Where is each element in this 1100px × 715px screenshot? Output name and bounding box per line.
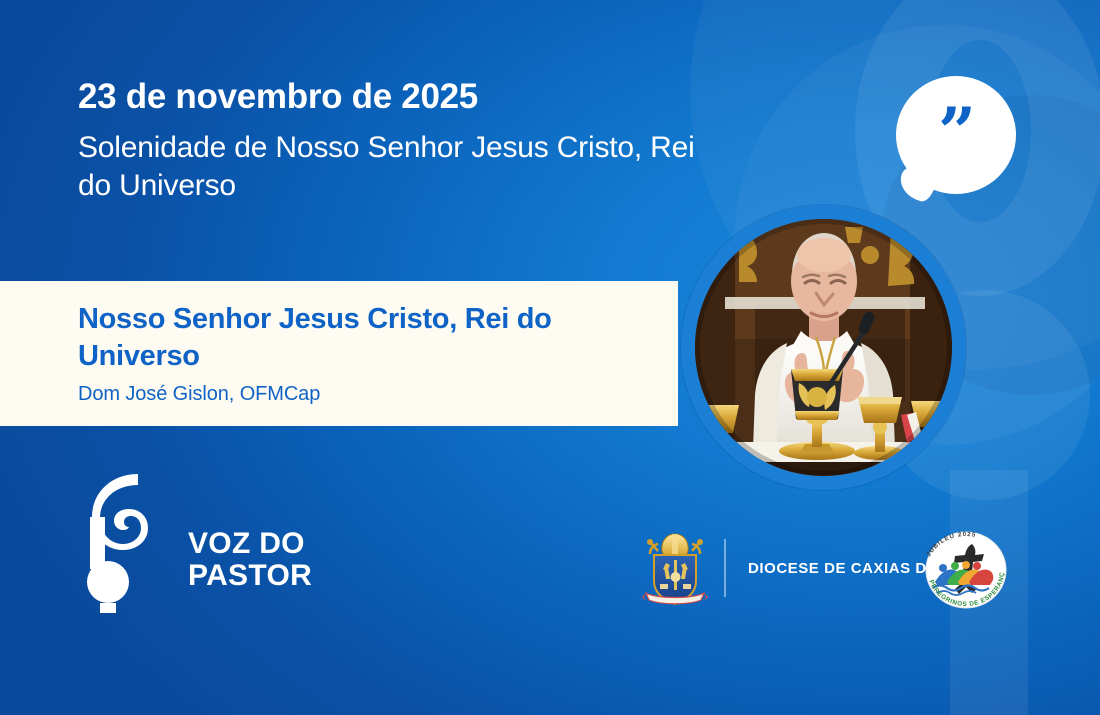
bishop-photo-frame xyxy=(681,205,966,490)
speech-bubble-quote-icon: ” xyxy=(896,76,1016,194)
homily-title: Nosso Senhor Jesus Cristo, Rei do Univer… xyxy=(78,301,638,374)
crosier-icon xyxy=(80,468,184,613)
logo-line-1: VOZ DO xyxy=(188,528,312,560)
homily-author: Dom José Gislon, OFMCap xyxy=(78,383,638,406)
voz-do-pastor-banner: 23 de novembro de 2025 Solenidade de Nos… xyxy=(0,0,1100,715)
voz-do-pastor-logo: VOZ DO PASTOR xyxy=(80,468,340,613)
footer-divider xyxy=(724,539,726,597)
diocese-coat-of-arms-icon xyxy=(636,529,714,607)
publication-date: 23 de novembro de 2025 xyxy=(78,78,718,117)
title-band: Nosso Senhor Jesus Cristo, Rei do Univer… xyxy=(0,281,678,426)
bishop-celebrating-mass-photo xyxy=(695,219,952,476)
voz-do-pastor-wordmark: VOZ DO PASTOR xyxy=(188,528,312,593)
logo-line-2: PASTOR xyxy=(188,560,312,592)
jubilee-2025-logo-icon: JUBILEU 2025 PEREGRINOS DE ESPERANÇA xyxy=(913,530,1019,610)
header-block: 23 de novembro de 2025 Solenidade de Nos… xyxy=(78,78,718,205)
quote-glyph: ” xyxy=(896,76,1016,194)
liturgical-subtitle: Solenidade de Nosso Senhor Jesus Cristo,… xyxy=(78,129,718,206)
title-band-content: Nosso Senhor Jesus Cristo, Rei do Univer… xyxy=(78,301,638,406)
